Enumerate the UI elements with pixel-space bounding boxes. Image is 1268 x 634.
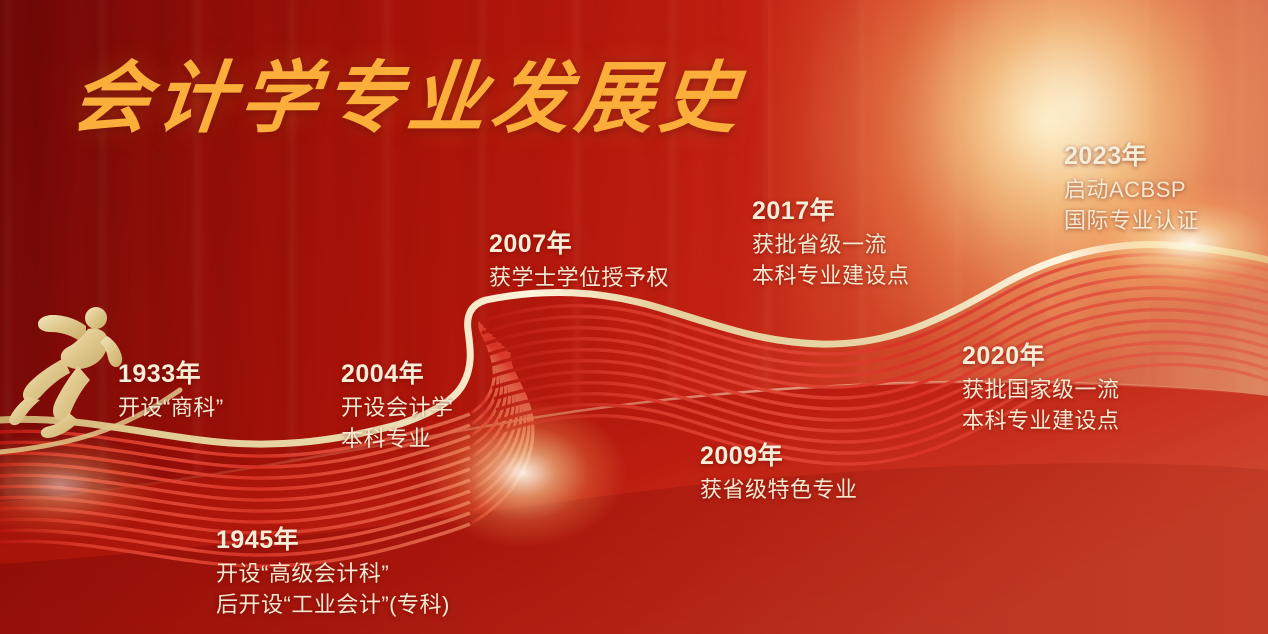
milestone-1933[interactable]: 1933年 开设“商科” [118, 358, 224, 423]
runner-base-glow [0, 430, 160, 540]
milestone-2023[interactable]: 2023年 启动ACBSP 国际专业认证 [1064, 140, 1199, 236]
milestone-2017[interactable]: 2017年 获批省级一流 本科专业建设点 [752, 195, 910, 291]
milestone-line: 开设“高级会计科” [216, 558, 450, 589]
milestone-2009[interactable]: 2009年 获省级特色专业 [700, 440, 858, 505]
milestone-year: 1933年 [118, 358, 224, 392]
milestone-line: 国际专业认证 [1064, 205, 1199, 236]
milestone-year: 2004年 [341, 358, 454, 392]
milestone-year: 2009年 [700, 440, 858, 474]
milestone-year: 2023年 [1064, 140, 1199, 174]
milestone-year: 2007年 [489, 228, 669, 262]
milestone-year: 2020年 [962, 340, 1120, 374]
milestone-2020[interactable]: 2020年 获批国家级一流 本科专业建设点 [962, 340, 1120, 436]
poster-canvas: 1933年 开设“商科” 1945年 开设“高级会计科” 后开设“工业会计”(专… [0, 0, 1268, 634]
milestone-year: 1945年 [216, 524, 450, 558]
milestone-line: 获批国家级一流 [962, 374, 1120, 405]
milestone-line: 获学士学位授予权 [489, 262, 669, 293]
milestone-line: 获省级特色专业 [700, 474, 858, 505]
milestone-2007[interactable]: 2007年 获学士学位授予权 [489, 228, 669, 293]
milestone-line: 本科专业建设点 [752, 260, 910, 291]
milestone-line: 获批省级一流 [752, 229, 910, 260]
milestone-line: 启动ACBSP [1064, 174, 1199, 205]
milestone-line: 本科专业 [341, 423, 454, 454]
milestone-1945[interactable]: 1945年 开设“高级会计科” 后开设“工业会计”(专科) [216, 524, 450, 620]
milestone-year: 2017年 [752, 195, 910, 229]
milestone-line: 后开设“工业会计”(专科) [216, 589, 450, 620]
page-title: 会计学专业发展史 [68, 58, 749, 140]
milestone-line: 开设“商科” [118, 392, 224, 423]
milestone-line: 本科专业建设点 [962, 405, 1120, 436]
milestone-line: 开设会计学 [341, 392, 454, 423]
lens-flare-circle [1148, 300, 1268, 430]
milestone-2004[interactable]: 2004年 开设会计学 本科专业 [341, 358, 454, 454]
